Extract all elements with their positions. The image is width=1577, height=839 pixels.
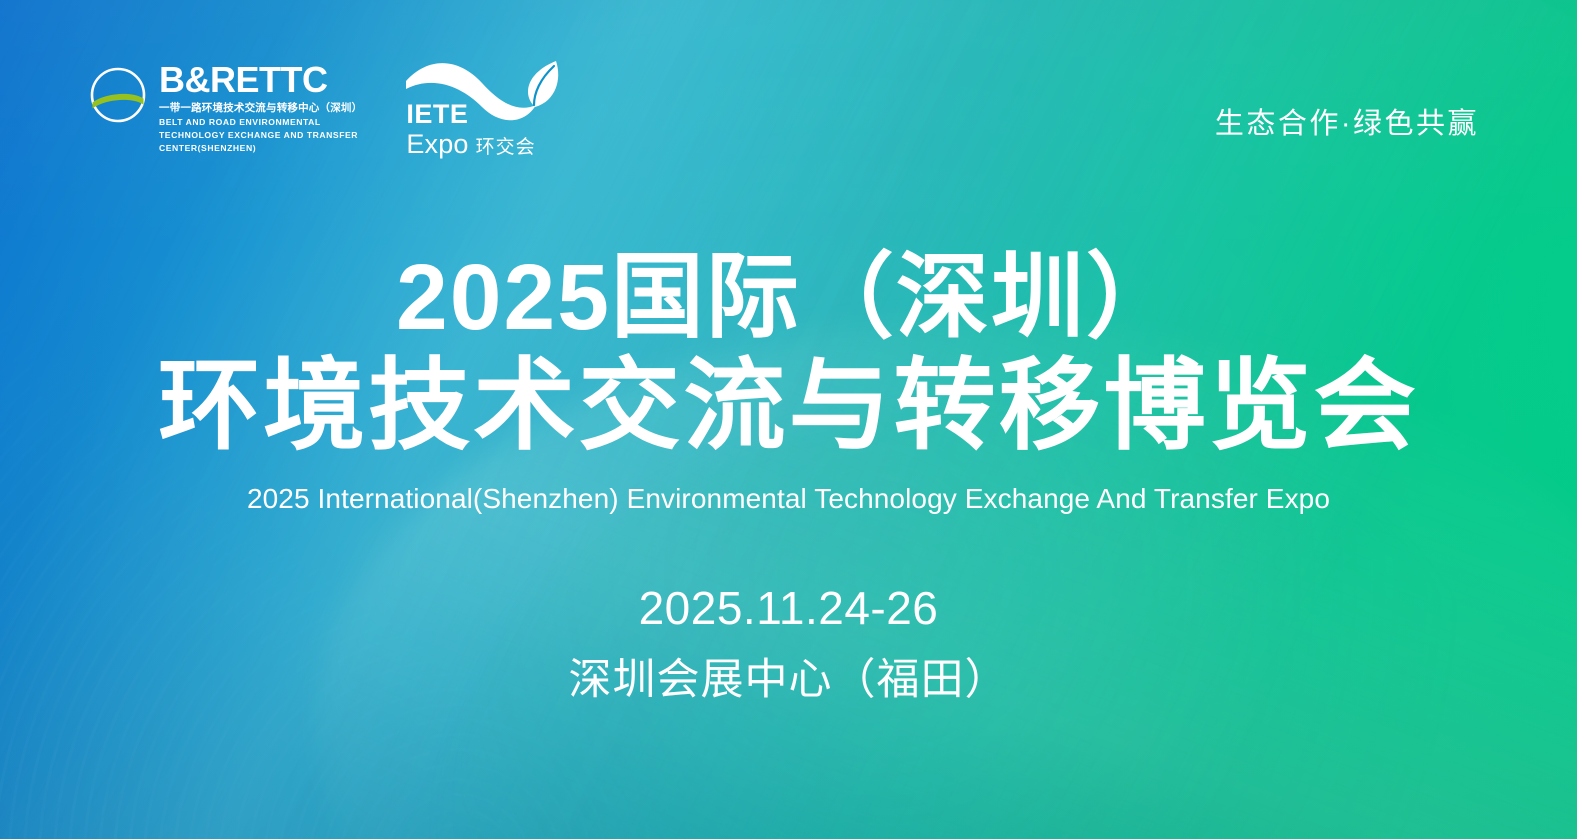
banner-main: 2025国际（深圳） 环境技术交流与转移博览会 2025 Internation… [0, 248, 1577, 707]
iete-acronym: IETE [406, 99, 468, 129]
brettc-wordmark: B&RETTC [159, 63, 362, 97]
iete-second-line: Expo 环交会 [406, 131, 535, 158]
brettc-logo: B&RETTC 一带一路环境技术交流与转移中心（深圳） BELT AND ROA… [88, 57, 362, 155]
brettc-english-line-2: TECHNOLOGY EXCHANGE AND TRANSFER [159, 129, 362, 141]
brettc-english-line-1: BELT AND ROAD ENVIRONMENTAL [159, 116, 362, 128]
event-banner: B&RETTC 一带一路环境技术交流与转移中心（深圳） BELT AND ROA… [0, 0, 1577, 839]
event-date: 2025.11.24-26 [0, 581, 1577, 635]
iete-wordmark: IETE Expo 环交会 [406, 101, 535, 158]
brettc-english-line-3: CENTER(SHENZHEN) [159, 142, 362, 154]
iete-chinese-short: 环交会 [476, 138, 536, 157]
event-venue: 深圳会展中心（福田） [0, 645, 1577, 707]
iete-expo-word: Expo [406, 131, 468, 158]
iete-expo-logo: IETE Expo 环交会 [404, 57, 564, 159]
logo-group: B&RETTC 一带一路环境技术交流与转移中心（深圳） BELT AND ROA… [88, 57, 564, 159]
title-line-2: 环境技术交流与转移博览会 [0, 353, 1577, 459]
brettc-chinese-name: 一带一路环境技术交流与转移中心（深圳） [159, 101, 362, 115]
banner-header: B&RETTC 一带一路环境技术交流与转移中心（深圳） BELT AND ROA… [0, 0, 1577, 215]
event-slogan: 生态合作·绿色共赢 [1215, 100, 1479, 142]
brettc-circle-band-icon [88, 65, 148, 130]
title-line-1: 2025国际（深圳） [0, 248, 1577, 347]
english-subtitle: 2025 International(Shenzhen) Environment… [0, 483, 1577, 515]
brettc-text-block: B&RETTC 一带一路环境技术交流与转移中心（深圳） BELT AND ROA… [159, 63, 362, 155]
